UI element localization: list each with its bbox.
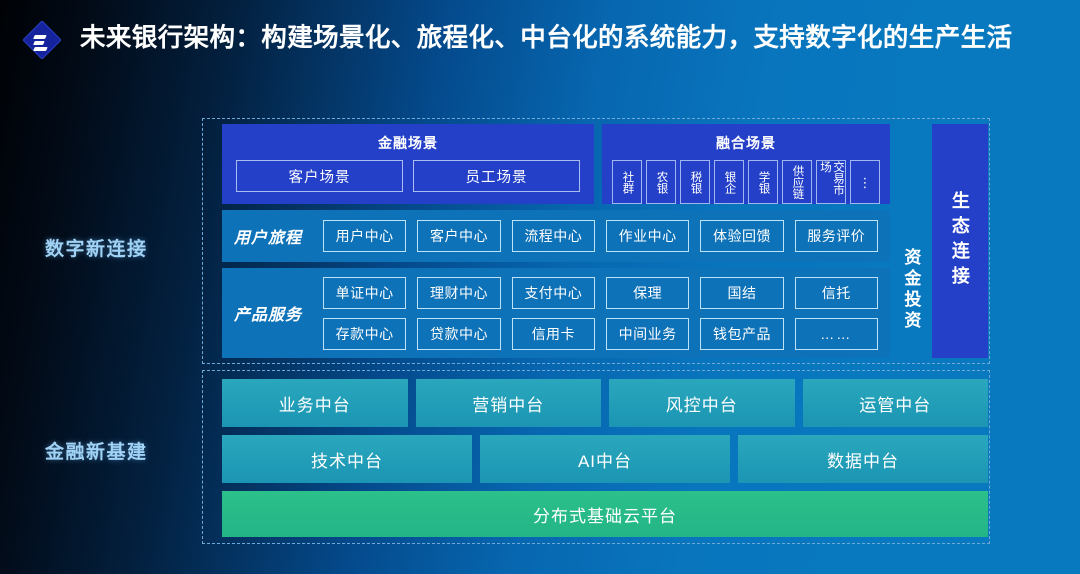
journey-chip-operation-center[interactable]: 作业中心 — [606, 220, 689, 252]
foundation-row: 分布式基础云平台 — [222, 491, 988, 537]
fusion-scenes-title: 融合场景 — [716, 133, 776, 153]
scene-item-customer[interactable]: 客户场景 — [236, 160, 403, 192]
product-chip-loan-center[interactable]: 贷款中心 — [417, 318, 500, 350]
product-service-row-2: 存款中心 贷款中心 信用卡 中间业务 钱包产品 …… — [323, 318, 878, 350]
distributed-cloud-platform[interactable]: 分布式基础云平台 — [222, 491, 988, 537]
journey-chip-process-center[interactable]: 流程中心 — [512, 220, 595, 252]
logo-diamond-shape — [22, 20, 62, 60]
eco-connection-label: 生态连接 — [947, 191, 973, 291]
logo-slash-1 — [33, 35, 46, 39]
product-chip-trust[interactable]: 信托 — [795, 277, 878, 309]
fusion-tag-supply-chain[interactable]: 供应链 — [782, 160, 812, 204]
product-chip-factoring[interactable]: 保理 — [606, 277, 689, 309]
midplatform-row-2: 技术中台 AI中台 数据中台 — [222, 435, 988, 483]
fund-investment-column: 资金投资 — [896, 124, 926, 358]
midplatform-ai[interactable]: AI中台 — [480, 435, 730, 483]
page-title: 未来银行架构：构建场景化、旅程化、中台化的系统能力，支持数字化的生产生活 — [80, 18, 1012, 58]
midplatform-business[interactable]: 业务中台 — [222, 379, 408, 427]
axis-label-financial-infrastructure: 金融新基建 — [45, 437, 148, 464]
fusion-tag-trading-market[interactable]: 交易市场 — [816, 160, 846, 204]
product-chip-wealth-center[interactable]: 理财中心 — [417, 277, 500, 309]
product-chip-more-ellipsis[interactable]: …… — [795, 318, 878, 350]
logo-slash-2 — [33, 41, 44, 45]
fusion-tag-more-ellipsis[interactable]: ⋮ — [850, 160, 880, 204]
product-chip-intermediary-business[interactable]: 中间业务 — [606, 318, 689, 350]
product-service-row-1: 单证中心 理财中心 支付中心 保理 国结 信托 — [323, 277, 878, 309]
midplatform-operations[interactable]: 运管中台 — [803, 379, 989, 427]
product-chip-payment-center[interactable]: 支付中心 — [512, 277, 595, 309]
fund-investment-label: 资金投资 — [898, 248, 923, 332]
midplatform-riskcontrol[interactable]: 风控中台 — [609, 379, 795, 427]
product-chip-credit-card[interactable]: 信用卡 — [512, 318, 595, 350]
scene-item-employee[interactable]: 员工场景 — [413, 160, 580, 192]
fusion-tag-edu-bank[interactable]: 学银 — [748, 160, 778, 204]
product-service-label: 产品服务 — [234, 301, 312, 325]
midplatform-technology[interactable]: 技术中台 — [222, 435, 472, 483]
fusion-tag-tax-bank[interactable]: 税银 — [680, 160, 710, 204]
product-chip-wallet-product[interactable]: 钱包产品 — [700, 318, 783, 350]
product-chip-document-center[interactable]: 单证中心 — [323, 277, 406, 309]
midplatform-data[interactable]: 数据中台 — [738, 435, 988, 483]
financial-infrastructure-section: 业务中台 营销中台 风控中台 运管中台 技术中台 AI中台 数据中台 分布式基础… — [222, 379, 988, 537]
fusion-tag-community[interactable]: 社群 — [612, 160, 642, 204]
company-logo-icon — [22, 22, 62, 62]
fusion-scenes-panel: 融合场景 社群 农银 税银 银企 学银 供应链 交易市场 ⋮ — [602, 124, 890, 204]
financial-scenes-title: 金融场景 — [378, 133, 438, 153]
logo-slash-3 — [33, 47, 47, 51]
axis-label-digital-connection: 数字新连接 — [45, 234, 148, 261]
product-service-band: 产品服务 单证中心 理财中心 支付中心 保理 国结 信托 存款中心 贷款中心 信… — [222, 268, 890, 358]
product-service-grid: 单证中心 理财中心 支付中心 保理 国结 信托 存款中心 贷款中心 信用卡 中间… — [323, 277, 878, 350]
product-chip-deposit-center[interactable]: 存款中心 — [323, 318, 406, 350]
midplatform-row-1: 业务中台 营销中台 风控中台 运管中台 — [222, 379, 988, 427]
user-journey-band: 用户旅程 用户中心 客户中心 流程中心 作业中心 体验回馈 服务评价 — [222, 210, 890, 262]
top-left-stack: 金融场景 客户场景 员工场景 融合场景 社群 农银 税银 银企 学银 供应链 交… — [222, 124, 890, 358]
journey-chip-customer-center[interactable]: 客户中心 — [417, 220, 500, 252]
journey-chip-experience-feedback[interactable]: 体验回馈 — [700, 220, 783, 252]
fusion-tag-agri-bank[interactable]: 农银 — [646, 160, 676, 204]
journey-chip-user-center[interactable]: 用户中心 — [323, 220, 406, 252]
eco-connection-panel[interactable]: 生态连接 — [932, 124, 988, 358]
financial-scenes-items: 客户场景 员工场景 — [236, 160, 580, 192]
digital-connection-section: 金融场景 客户场景 员工场景 融合场景 社群 农银 税银 银企 学银 供应链 交… — [222, 124, 988, 358]
midplatform-marketing[interactable]: 营销中台 — [416, 379, 602, 427]
user-journey-chips: 用户中心 客户中心 流程中心 作业中心 体验回馈 服务评价 — [323, 220, 878, 252]
product-chip-intl-settlement[interactable]: 国结 — [700, 277, 783, 309]
scenes-row: 金融场景 客户场景 员工场景 融合场景 社群 农银 税银 银企 学银 供应链 交… — [222, 124, 890, 204]
user-journey-label: 用户旅程 — [234, 224, 312, 248]
page-header: 未来银行架构：构建场景化、旅程化、中台化的系统能力，支持数字化的生产生活 — [0, 0, 1080, 104]
fusion-tag-bank-enterprise[interactable]: 银企 — [714, 160, 744, 204]
journey-chip-service-rating[interactable]: 服务评价 — [795, 220, 878, 252]
fusion-scenes-tags: 社群 农银 税银 银企 学银 供应链 交易市场 ⋮ — [612, 160, 880, 204]
financial-scenes-panel: 金融场景 客户场景 员工场景 — [222, 124, 594, 204]
